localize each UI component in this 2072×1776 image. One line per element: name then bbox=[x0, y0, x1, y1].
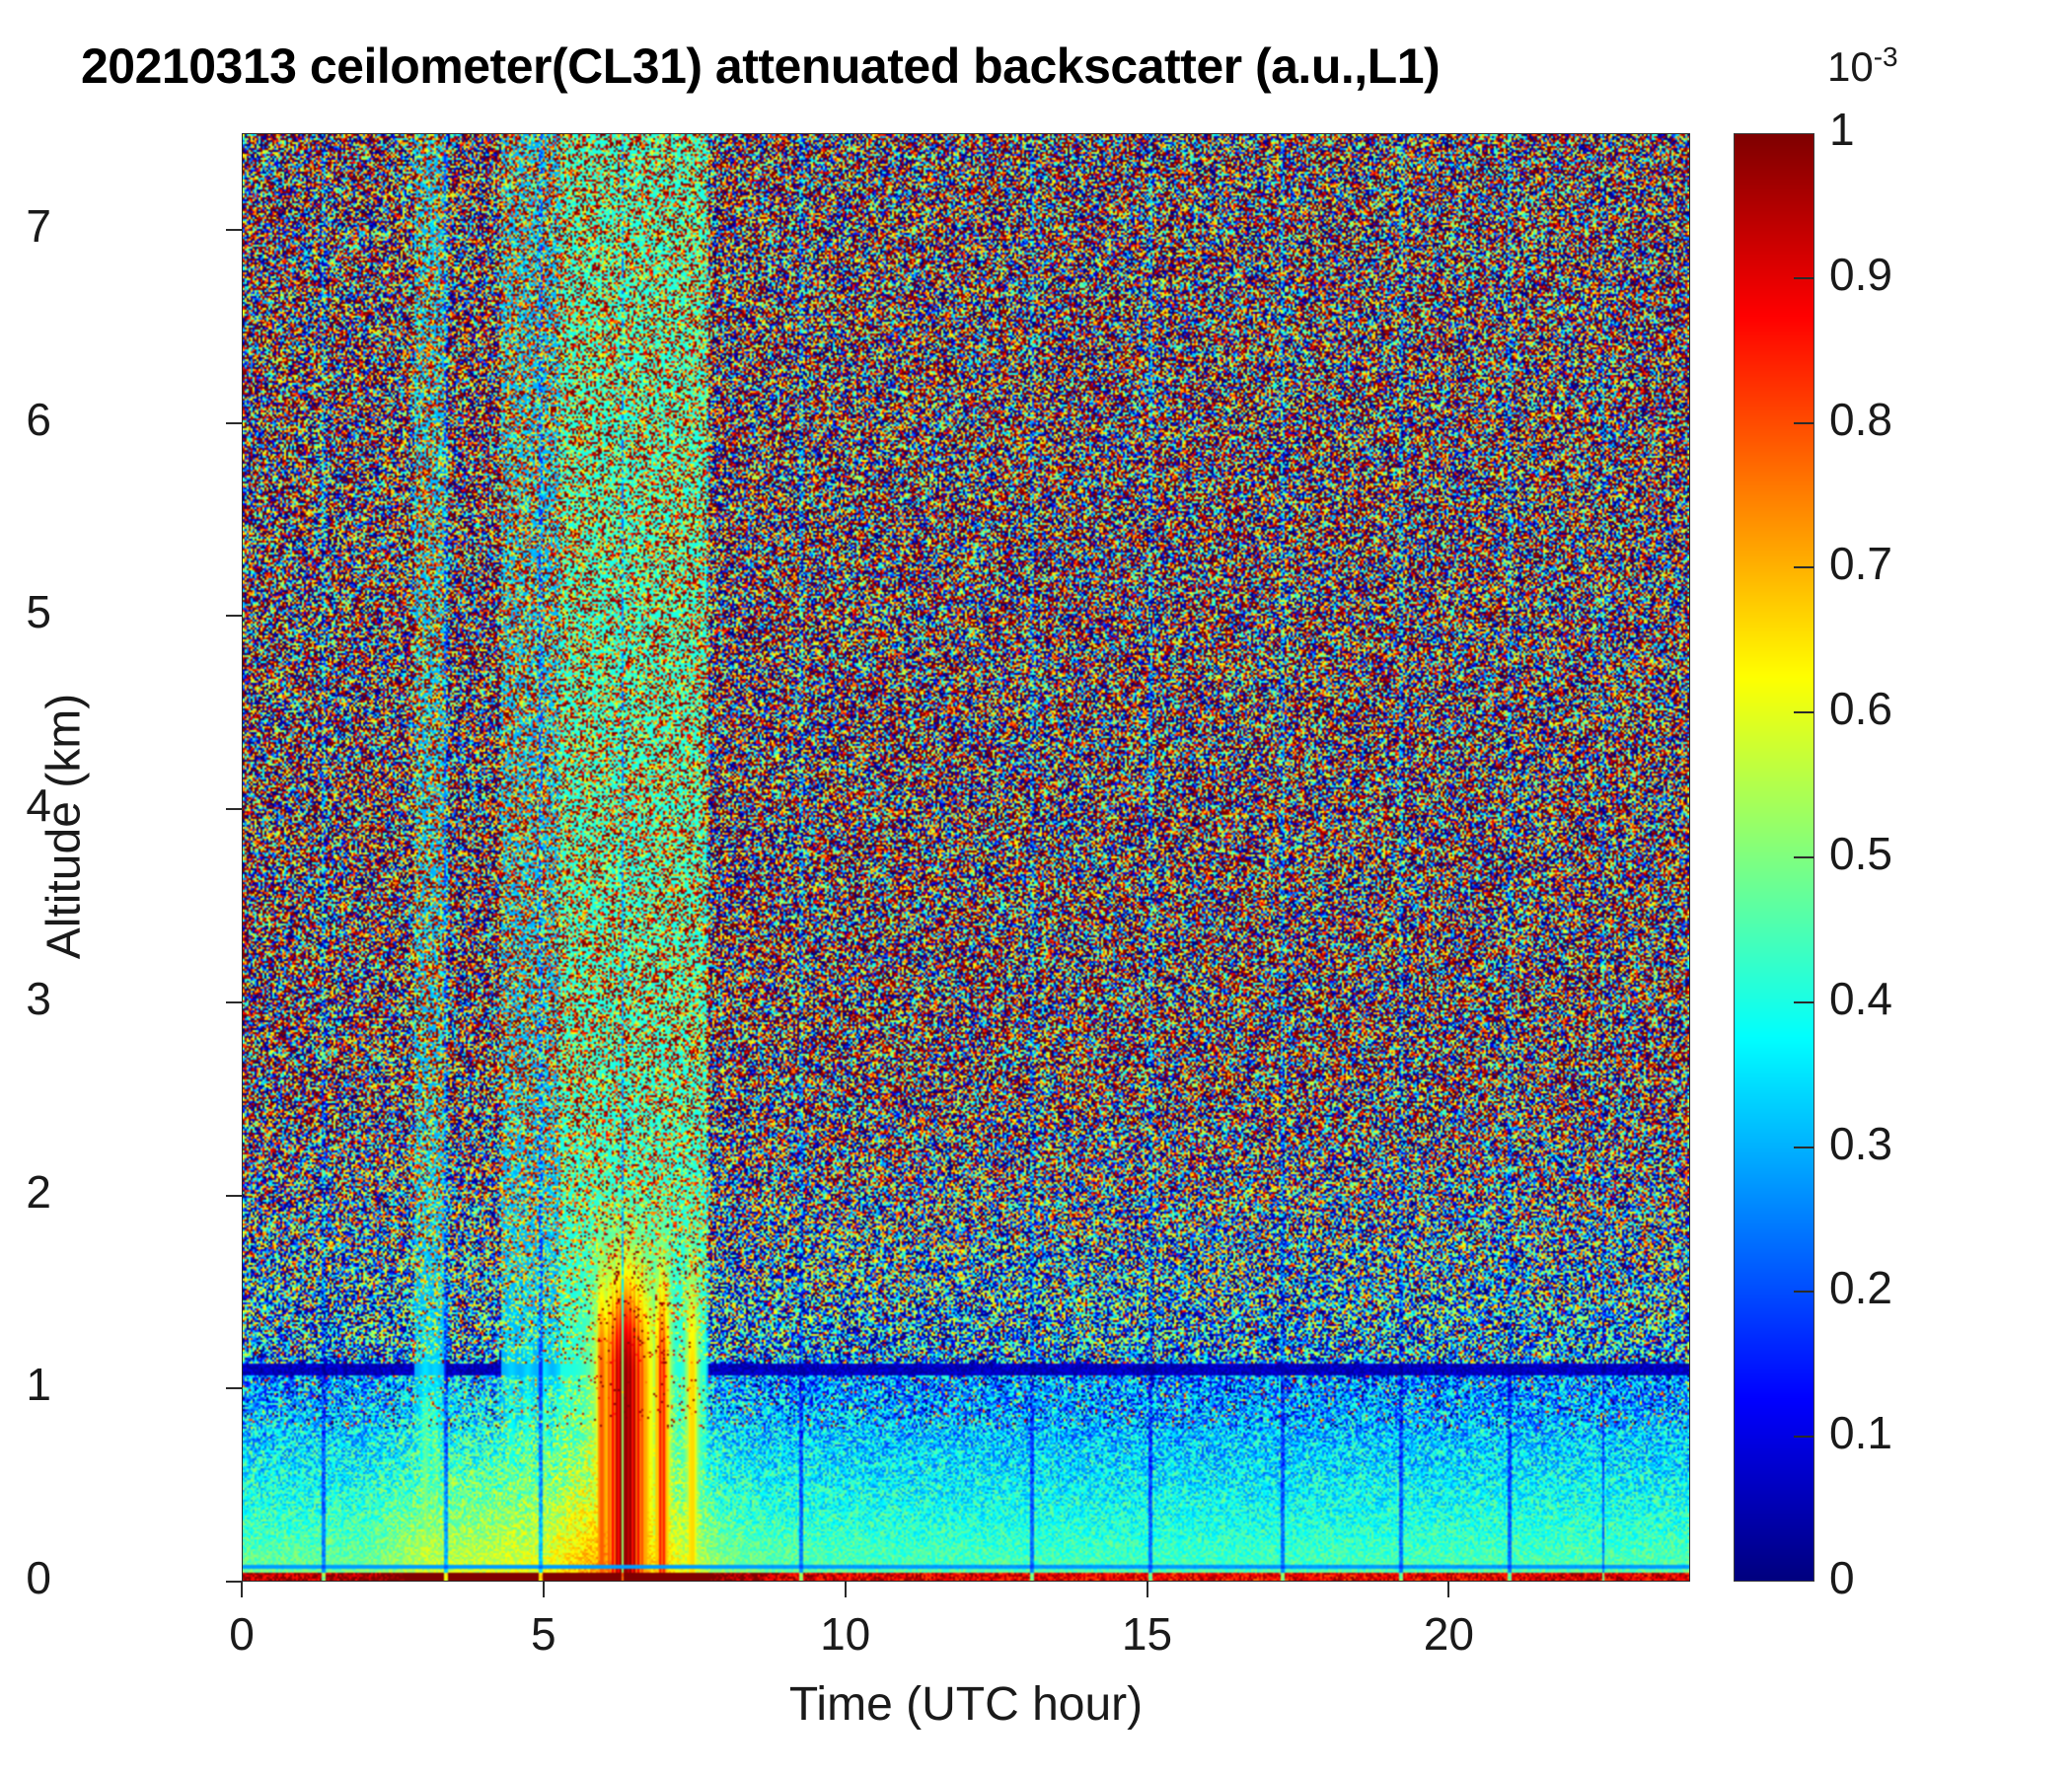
colorbar-tick-mark bbox=[1794, 1001, 1813, 1003]
heatmap-plot-area bbox=[242, 133, 1690, 1582]
x-axis-tick-mark bbox=[1447, 1582, 1449, 1597]
colorbar-tick-mark bbox=[1794, 1291, 1813, 1293]
x-axis-tick-label: 0 bbox=[163, 1607, 321, 1661]
colorbar-tick-mark bbox=[1794, 422, 1813, 424]
y-axis-tick-mark bbox=[226, 1195, 242, 1197]
colorbar-tick-mark bbox=[1794, 1147, 1813, 1148]
colorbar-tick-mark bbox=[1794, 1436, 1813, 1438]
y-axis-tick-mark bbox=[226, 1581, 242, 1583]
x-axis-tick-label: 20 bbox=[1369, 1607, 1527, 1661]
x-axis-tick-mark bbox=[241, 1582, 243, 1597]
colorbar-tick-label: 1 bbox=[1829, 103, 1855, 156]
y-axis-tick-label: 2 bbox=[26, 1165, 51, 1219]
colorbar-tick-label: 0.7 bbox=[1829, 537, 1892, 590]
y-axis-tick-label: 0 bbox=[26, 1551, 51, 1604]
x-axis-tick-label: 15 bbox=[1069, 1607, 1226, 1661]
y-axis-tick-label: 7 bbox=[26, 199, 51, 253]
y-axis-tick-label: 5 bbox=[26, 585, 51, 638]
y-axis-tick-mark bbox=[226, 808, 242, 810]
x-axis-label: Time (UTC hour) bbox=[242, 1677, 1690, 1732]
y-axis-tick-mark bbox=[226, 1387, 242, 1389]
colorbar-tick-mark bbox=[1794, 711, 1813, 713]
colorbar-tick-label: 0.6 bbox=[1829, 682, 1892, 735]
colorbar-tick-mark bbox=[1794, 566, 1813, 568]
y-axis-tick-mark bbox=[226, 1001, 242, 1003]
colorbar-tick-label: 0.3 bbox=[1829, 1117, 1892, 1170]
colorbar-tick-label: 0 bbox=[1829, 1551, 1855, 1604]
y-axis-tick-label: 4 bbox=[26, 778, 51, 832]
colorbar-tick-label: 0.4 bbox=[1829, 972, 1892, 1025]
colorbar-tick-label: 0.1 bbox=[1829, 1406, 1892, 1459]
colorbar-exponent-label: 10-3 bbox=[1827, 41, 1898, 91]
y-axis-tick-label: 1 bbox=[26, 1358, 51, 1411]
x-axis-tick-mark bbox=[845, 1582, 847, 1597]
y-axis-tick-label: 3 bbox=[26, 972, 51, 1025]
colorbar-tick-label: 0.9 bbox=[1829, 248, 1892, 301]
colorbar-tick-mark bbox=[1794, 856, 1813, 858]
y-axis-tick-label: 6 bbox=[26, 393, 51, 446]
colorbar-tick-label: 0.5 bbox=[1829, 827, 1892, 880]
colorbar-exponent-power: -3 bbox=[1874, 41, 1898, 72]
colorbar-tick-label: 0.2 bbox=[1829, 1261, 1892, 1314]
x-axis-tick-mark bbox=[543, 1582, 545, 1597]
colorbar-tick-label: 0.8 bbox=[1829, 393, 1892, 446]
ceilometer-backscatter-figure: 20210313 ceilometer(CL31) attenuated bac… bbox=[0, 0, 2072, 1776]
x-axis-tick-label: 5 bbox=[465, 1607, 623, 1661]
heatmap-canvas bbox=[243, 134, 1689, 1581]
page-title: 20210313 ceilometer(CL31) attenuated bac… bbox=[81, 37, 1440, 95]
y-axis-tick-mark bbox=[226, 229, 242, 231]
colorbar-tick-mark bbox=[1794, 277, 1813, 279]
y-axis-tick-mark bbox=[226, 422, 242, 424]
x-axis-tick-mark bbox=[1147, 1582, 1148, 1597]
y-axis-tick-mark bbox=[226, 615, 242, 617]
x-axis-tick-label: 10 bbox=[767, 1607, 925, 1661]
colorbar-exponent-mantissa: 10 bbox=[1827, 43, 1874, 90]
